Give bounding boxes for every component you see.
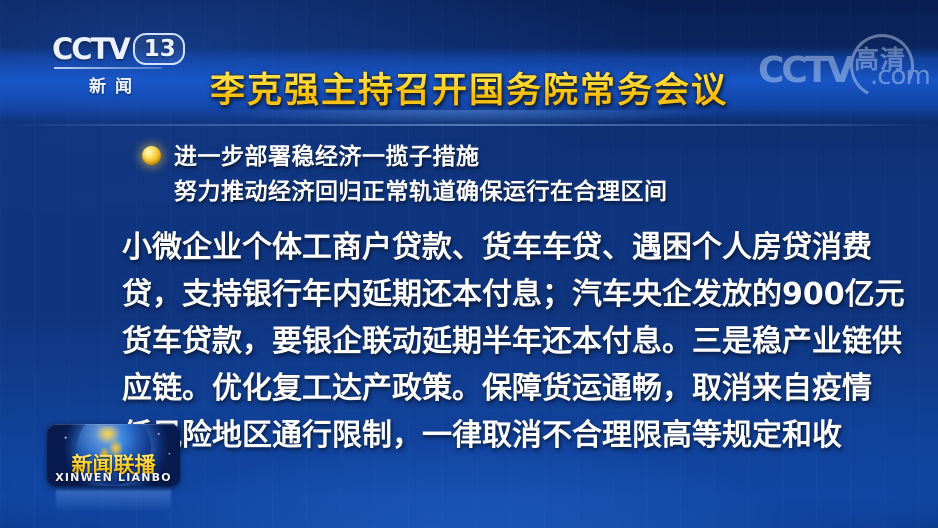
subtitle-line: 努力推动经济回归正常轨道确保运行在合理区间: [174, 175, 914, 210]
gold-bullet-icon: [142, 146, 161, 165]
broadcast-frame: CCTV 13 新闻 高清 CCTV .com 李克强主持召开国务院常务会议 李…: [0, 0, 938, 528]
body-line: 贷，支持银行年内延期还本付息；汽车央企发放的900亿元: [122, 271, 832, 318]
subtitle-line: 进一步部署稳经济一揽子措施: [174, 140, 914, 175]
program-name-en: XINWEN LIANBO: [47, 471, 180, 484]
subtitle-block: 进一步部署稳经济一揽子措施 努力推动经济回归正常轨道确保运行在合理区间: [174, 140, 914, 210]
cctv13-logo-row: CCTV 13: [52, 33, 170, 65]
body-paragraph: 小微企业个体工商户贷款、货车车贷、遇困个人房贷消费 贷，支持银行年内延期还本付息…: [122, 224, 832, 459]
body-line: 小微企业个体工商户贷款、货车车贷、遇困个人房贷消费: [122, 224, 832, 271]
body-line: 应链。优化复工达产政策。保障货运通畅，取消来自疫情: [122, 365, 832, 412]
xinwen-lianbo-logo: 新闻联播 XINWEN LIANBO: [47, 424, 180, 486]
channel-number-badge: 13: [133, 33, 185, 65]
cctv-wordmark: CCTV: [52, 34, 129, 64]
body-line: 货车贷款，要银企联动延期半年还本付息。三是稳产业链供: [122, 318, 832, 365]
banner-divider: [0, 124, 938, 126]
body-line: 低风险地区通行限制，一律取消不合理限高等规定和收: [122, 412, 832, 459]
logo-reflection: [56, 490, 171, 512]
page-title: 李克强主持召开国务院常务会议: [0, 62, 938, 113]
